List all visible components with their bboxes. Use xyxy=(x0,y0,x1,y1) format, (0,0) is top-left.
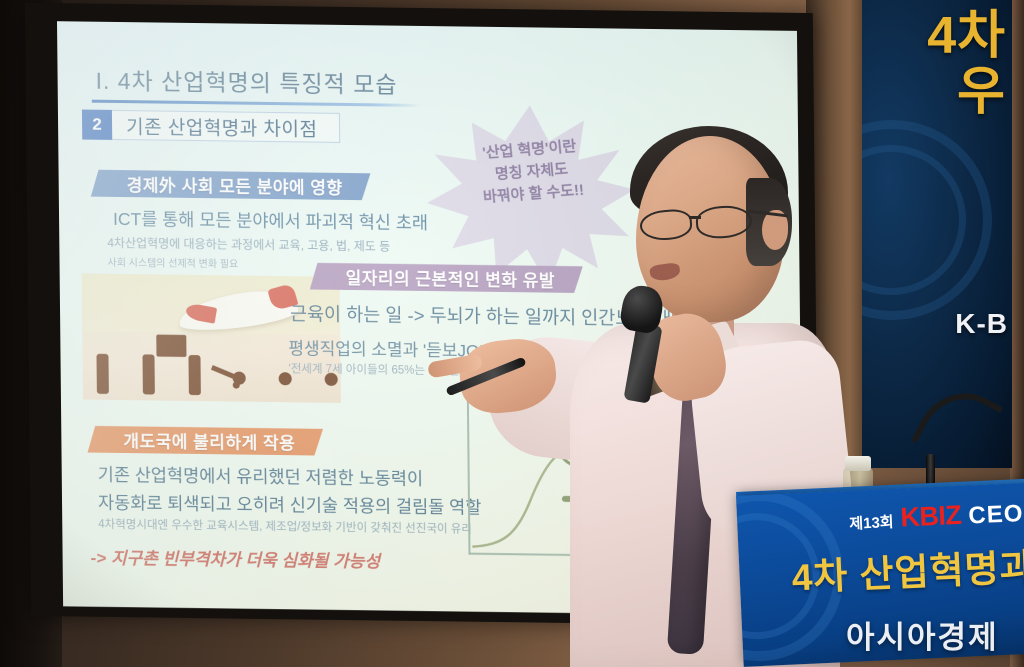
block1-line1: ICT를 통해 모든 분야에서 파괴적 혁신 초래 xyxy=(113,206,428,235)
worker-figure-3 xyxy=(188,353,200,395)
worker-figure-1 xyxy=(96,352,108,394)
glasses-bridge xyxy=(689,216,701,219)
block1-line2: 4차산업혁명에 대응하는 과정에서 교육, 고용, 법, 제도 등 xyxy=(107,234,390,255)
figure-body xyxy=(188,355,200,395)
podium-event-line: 제13회 KBIZ CEO xyxy=(849,497,1024,536)
block1-line3: 사회 시스템의 선제적 변화 필요 xyxy=(107,254,238,271)
banner-gold-line-2: 우 xyxy=(862,64,1006,120)
banner-gold-line-1: 4차 xyxy=(862,8,1006,64)
podium-event-number: 제13회 xyxy=(849,511,894,534)
banner-gold-text: 4차 우 xyxy=(862,8,1006,120)
worker-figure-2 xyxy=(142,352,154,394)
screenshot-root: 4차 우 K-B I. 4차 산업혁명의 특징적 모습 2 기존 산업혁명과 차… xyxy=(0,0,1024,667)
carried-box xyxy=(156,335,186,357)
podium-brand-kbiz: KBIZ xyxy=(900,500,962,534)
block3-line1: 기존 산업혁명에서 유리했던 저렴한 노동력이 xyxy=(98,462,424,491)
slide-title: I. 4차 산업혁명의 특징적 모습 xyxy=(95,62,397,100)
block3-conclusion: -> 지구촌 빈부격차가 더욱 심화될 가능성 xyxy=(90,544,380,573)
banner-kbiz-logo: K-B xyxy=(955,308,1008,340)
section-number-badge: 2 xyxy=(82,110,112,140)
podium-headline: 4차 산업혁명과 xyxy=(790,537,1024,602)
slide-section-header: 2 기존 산업혁명과 차이점 xyxy=(82,110,341,143)
podium-brand-ceo: CEO xyxy=(968,500,1024,530)
block3-line2: 자동화로 퇴색되고 오히려 신기술 적용의 걸림돌 역할 xyxy=(98,490,482,520)
figure-body xyxy=(96,354,108,394)
figure-body xyxy=(142,354,154,394)
section-title-box: 기존 산업혁명과 차이점 xyxy=(112,110,341,143)
hand-cart xyxy=(211,367,253,398)
press-watermark: 아시아경제 xyxy=(846,612,999,657)
title-underline xyxy=(92,100,422,107)
band-economy-impact: 경제外 사회 모든 분야에 영향 xyxy=(91,170,371,201)
band-developing-countries: 개도국에 불리하게 작용 xyxy=(87,426,323,456)
water-bottle-cap xyxy=(845,456,871,471)
microphone-arm xyxy=(911,377,1003,472)
